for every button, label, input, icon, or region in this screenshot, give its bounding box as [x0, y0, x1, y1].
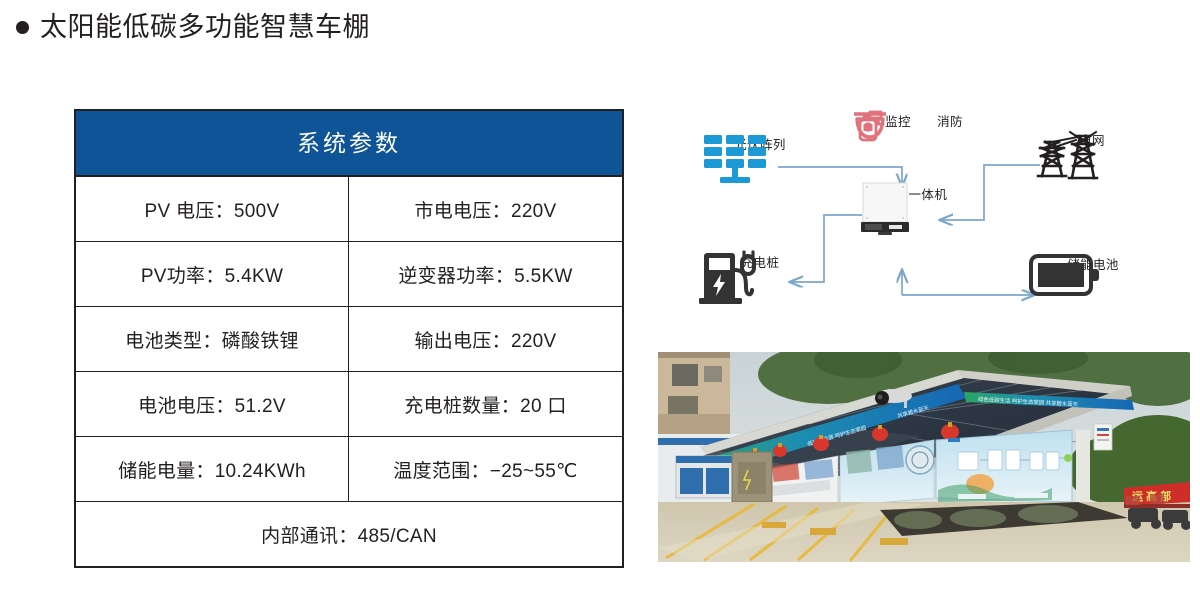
table-row: 电池电压：51.2V 充电桩数量：20 口 [76, 372, 622, 437]
table-cell: 电池类型：磷酸铁锂 [76, 307, 349, 371]
system-parameter-table: 系统参数 PV 电压：500V 市电电压：220V PV功率：5.4KW 逆变器… [74, 109, 624, 568]
table-header: 系统参数 [76, 111, 622, 177]
table-cell: PV 电压：500V [76, 177, 349, 241]
diagram-node-label: 消防 [927, 111, 973, 130]
page-title: 太阳能低碳多功能智慧车棚 [16, 13, 370, 43]
bullet-dot-icon [16, 21, 29, 34]
table-cell: 温度范围：−25~55℃ [349, 437, 622, 501]
solar-panel-icon [700, 132, 774, 188]
table-row: 电池类型：磷酸铁锂 输出电压：220V [76, 307, 622, 372]
system-architecture-diagram: 光伏阵列 监控 [650, 110, 1200, 342]
table-row: PV 电压：500V 市电电压：220V [76, 177, 622, 242]
diagram-node-pv-array: 光伏阵列 [700, 132, 820, 153]
diagram-node-fire: 消防 [927, 110, 973, 130]
table-row: 内部通讯：485/CAN [76, 502, 622, 566]
carport-photo: 绿色低碳生活 可持续发展 低碳新能源 呵护生态家园 共享碧水蓝天 绿色低碳生活 … [658, 352, 1190, 562]
power-tower-icon [1032, 128, 1102, 184]
table-row: 储能电量：10.24KWh 温度范围：−25~55℃ [76, 437, 622, 502]
ev-charger-icon [696, 250, 762, 306]
table-cell: PV功率：5.4KW [76, 242, 349, 306]
inverter-cabinet-icon [856, 182, 914, 236]
diagram-node-battery: 储能电池 [1028, 252, 1158, 273]
table-row: PV功率：5.4KW 逆变器功率：5.5KW [76, 242, 622, 307]
table-cell: 市电电压：220V [349, 177, 622, 241]
solar-carport-photo: 绿色低碳生活 可持续发展 低碳新能源 呵护生态家园 共享碧水蓝天 绿色低碳生活 … [658, 352, 1190, 562]
diagram-node-grid: 电网 [1032, 128, 1152, 149]
diagram-node-inverter: 光储一体机 [856, 182, 974, 203]
table-cell: 电池电压：51.2V [76, 372, 349, 436]
table-cell: 输出电压：220V [349, 307, 622, 371]
table-cell: 逆变器功率：5.5KW [349, 242, 622, 306]
fire-extinguisher-icon [850, 110, 890, 142]
table-cell: 内部通讯：485/CAN [76, 502, 622, 566]
table-cell: 充电桩数量：20 口 [349, 372, 622, 436]
table-cell: 储能电量：10.24KWh [76, 437, 349, 501]
page-title-text: 太阳能低碳多功能智慧车棚 [40, 13, 370, 43]
battery-icon [1028, 252, 1102, 298]
diagram-node-charging-pile: 充电桩 [696, 250, 824, 271]
diagram-node-safety-group: 监控 消防 [850, 110, 998, 130]
